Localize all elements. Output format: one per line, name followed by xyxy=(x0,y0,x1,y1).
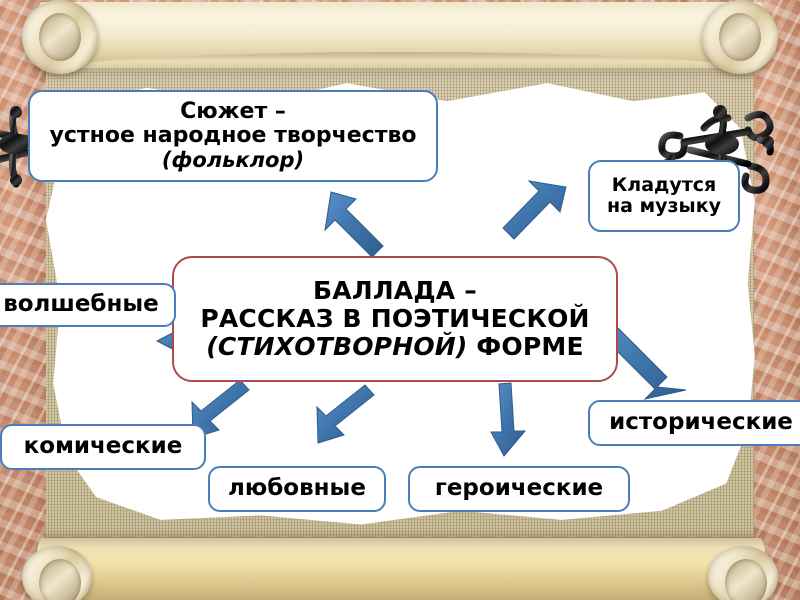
magic-type-box[interactable]: волшебные xyxy=(0,283,176,327)
arrow-to-music xyxy=(503,181,566,239)
set-to-music-box[interactable]: Кладутся на музыку xyxy=(588,160,740,232)
music-line-1: Кладутся xyxy=(612,175,716,196)
plot-line-2: устное народное творчество xyxy=(50,124,417,149)
definition-line-3: (СТИХОТВОРНОЙ) ФОРМЕ xyxy=(206,333,584,361)
plot-box[interactable]: Сюжет – устное народное творчество (фоль… xyxy=(28,90,438,182)
heroic-type-box[interactable]: героические xyxy=(408,466,630,512)
love-label: любовные xyxy=(228,476,366,502)
ballad-definition-box[interactable]: БАЛЛАДА – РАССКАЗ В ПОЭТИЧЕСКОЙ (СТИХОТВ… xyxy=(172,256,618,382)
comic-type-box[interactable]: комические xyxy=(0,424,206,470)
heroic-label: героические xyxy=(435,476,603,502)
definition-line-1: БАЛЛАДА – xyxy=(313,277,477,305)
definition-line-2: РАССКАЗ В ПОЭТИЧЕСКОЙ xyxy=(200,305,589,333)
plot-line-1: Сюжет – xyxy=(180,100,286,125)
historical-label: исторические xyxy=(609,410,793,436)
love-type-box[interactable]: любовные xyxy=(208,466,386,512)
historical-type-box[interactable]: исторические xyxy=(588,400,800,446)
comic-label: комические xyxy=(24,434,183,460)
plot-line-3: (фольклор) xyxy=(162,149,304,173)
arrow-to-plot xyxy=(325,192,383,257)
arrow-to-love xyxy=(317,385,374,443)
magic-label: волшебные xyxy=(3,292,159,318)
slide-canvas: Сюжет – устное народное творчество (фоль… xyxy=(0,0,800,600)
music-line-2: на музыку xyxy=(607,196,721,217)
arrow-to-heroic xyxy=(491,383,525,456)
definition-line-3-bold: ФОРМЕ xyxy=(468,332,584,361)
definition-line-3-italic: (СТИХОТВОРНОЙ) xyxy=(206,332,467,361)
